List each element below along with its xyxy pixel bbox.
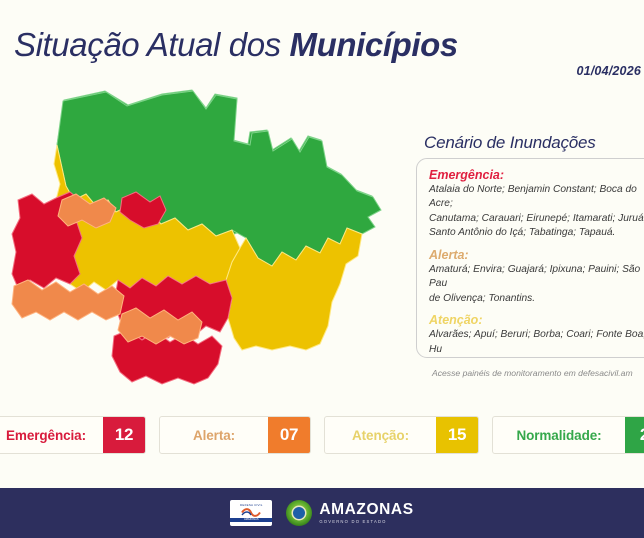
status-card-normalidade-label: Normalidade: (493, 417, 625, 453)
legend-category-alerta-label: Alerta: (429, 248, 644, 262)
legend-panel: Emergência: Atalaia do Norte; Benjamin C… (416, 158, 644, 358)
amazonas-map-svg[interactable] (10, 88, 410, 408)
status-card-alerta-value: 07 (268, 417, 310, 453)
legend-note: Acesse painéis de monitoramento em defes… (432, 368, 633, 378)
header: Situação Atual dos Municípios 01/04/2026 (0, 0, 644, 92)
amazonas-gov-subtitle: GOVERNO DO ESTADO (319, 520, 413, 524)
map-regions[interactable] (12, 90, 381, 384)
status-card-atencao[interactable]: Atenção: 15 (324, 416, 479, 454)
legend-category-atencao-list: Alvarães; Apuí; Beruri; Borba; Coari; Fo… (429, 328, 644, 358)
status-card-normalidade[interactable]: Normalidade: 28 (492, 416, 644, 454)
defesa-civil-logo-icon: DEFESA CIVIL AMAZONAS (230, 500, 272, 526)
amazonas-gov-logo: AMAZONAS GOVERNO DO ESTADO (286, 500, 413, 526)
infographic-root: Situação Atual dos Municípios 01/04/2026 (0, 0, 644, 538)
status-card-alerta-label: Alerta: (160, 417, 268, 453)
page-title-plain: Situação Atual dos (14, 26, 290, 63)
region-alerta-se[interactable] (118, 308, 202, 344)
legend-category-emergencia-label: Emergência: (429, 168, 644, 182)
status-card-alerta[interactable]: Alerta: 07 (159, 416, 311, 454)
status-card-atencao-label: Atenção: (325, 417, 436, 453)
legend-title: Cenário de Inundações (424, 133, 596, 153)
status-card-atencao-value: 15 (436, 417, 478, 453)
status-card-normalidade-value: 28 (625, 417, 644, 453)
legend-category-alerta-list: Amaturá; Envira; Guajará; Ipixuna; Pauin… (429, 263, 644, 306)
legend-category-atencao-label: Atenção: (429, 313, 644, 327)
amazonas-map[interactable] (10, 88, 410, 408)
status-summary-bar: Emergência: 12 Alerta: 07 Atenção: 15 No… (0, 412, 644, 458)
page-title: Situação Atual dos Municípios (14, 26, 458, 64)
status-card-emergencia-value: 12 (103, 417, 145, 453)
amazonas-gov-name: AMAZONAS (319, 502, 413, 518)
status-card-emergencia-label: Emergência: (0, 417, 103, 453)
footer: DEFESA CIVIL AMAZONAS AMAZONAS GOVERNO D… (0, 488, 644, 538)
status-card-emergencia[interactable]: Emergência: 12 (0, 416, 146, 454)
legend-category-emergencia-list: Atalaia do Norte; Benjamin Constant; Boc… (429, 183, 644, 241)
defesa-civil-logo-bottom: AMAZONAS (230, 518, 272, 522)
amazonas-crest-icon (286, 500, 312, 526)
defesa-civil-emblem-icon (240, 507, 262, 518)
report-date: 01/04/2026 (576, 64, 641, 78)
amazonas-gov-text: AMAZONAS GOVERNO DO ESTADO (319, 502, 413, 524)
page-title-bold: Municípios (290, 26, 458, 63)
